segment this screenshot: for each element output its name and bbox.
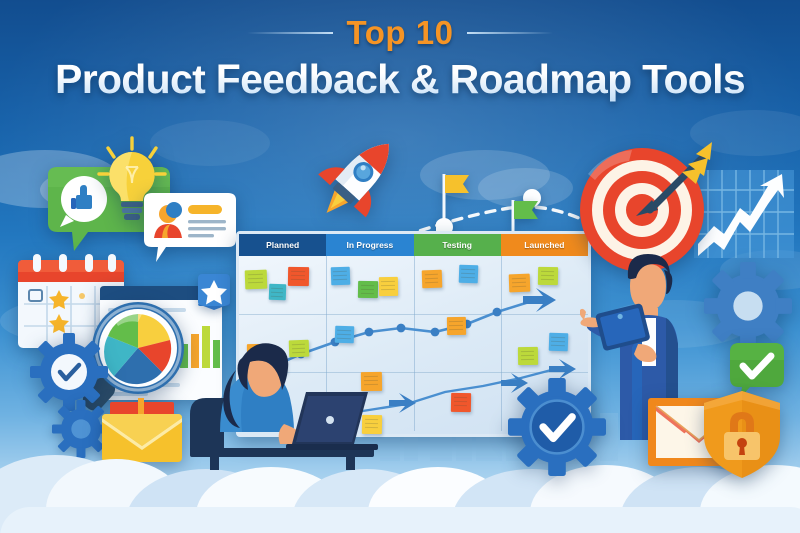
board-column-header[interactable]: Testing [414,234,501,256]
cloud-decoration [150,120,270,166]
sticky-note-line [425,282,439,283]
sticky-note-line [425,278,439,279]
sticky-note[interactable] [422,270,443,289]
sticky-note[interactable] [268,284,286,301]
sticky-note[interactable] [245,270,268,290]
sticky-note-line [248,282,263,284]
cloud-puff [0,507,800,533]
sticky-note-line [551,345,564,346]
board-column-header[interactable]: Launched [501,234,588,256]
user-profile-card-bubble [140,192,238,264]
sticky-note[interactable] [459,264,479,283]
header: Top 10 Product Feedback & Roadmap Tools [0,14,800,103]
sticky-note[interactable] [378,277,397,296]
sticky-note-line [334,274,347,275]
eyebrow-label: Top 10 [347,14,454,52]
board-header: Planned In Progress Testing Launched [239,234,588,256]
sticky-note[interactable] [538,266,558,284]
sticky-note[interactable] [548,333,568,352]
page-title: Product Feedback & Roadmap Tools [0,56,800,103]
sticky-note-line [334,270,347,271]
sticky-note-line [291,278,306,279]
eyebrow-rule-left [247,32,333,34]
sticky-note-line [541,274,555,275]
sticky-note-line [360,284,374,285]
sticky-note-line [381,281,394,282]
sticky-note-line [337,334,350,335]
sticky-note[interactable] [451,392,471,411]
sticky-note-line [512,281,527,283]
sticky-note-line [248,274,263,276]
sticky-note-line [337,338,350,339]
board-column-header[interactable]: Planned [239,234,326,256]
sticky-note-line [512,277,527,279]
sticky-note-line [291,274,306,275]
sticky-note-line [461,277,474,278]
sticky-note-line [381,285,394,286]
gear-with-checkmark [508,378,606,476]
board-column-label: In Progress [346,240,393,250]
sticky-note-line [521,351,535,352]
eyebrow-rule-right [467,32,553,34]
sticky-note-line [521,355,535,356]
sticky-note[interactable] [331,266,351,285]
sticky-note-line [454,396,468,397]
sticky-note-line [271,296,283,297]
sticky-note-line [338,330,351,331]
settings-gear [704,262,792,350]
sticky-note-line [449,321,462,322]
infographic-canvas: Top 10 Product Feedback & Roadmap Tools [0,0,800,533]
sticky-note-line [360,288,374,289]
sticky-note-line [454,404,468,405]
sticky-note[interactable] [288,266,309,285]
rocket-launch [312,130,404,226]
sticky-note-line [271,292,283,293]
sticky-note-line [248,278,263,280]
sticky-note[interactable] [446,317,465,335]
sticky-note-line [271,288,283,289]
security-shield-lock [700,388,784,482]
sticky-note-line [454,400,468,401]
board-column-label: Planned [266,240,299,250]
eyebrow-row: Top 10 [0,14,800,52]
sticky-note-line [512,285,527,287]
board-column-label: Testing [442,240,472,250]
sticky-note-line [334,278,347,279]
sticky-note-line [461,269,474,270]
sticky-note-line [521,359,535,360]
sticky-note-line [381,289,394,290]
milestone-flag-yellow [436,170,476,238]
sticky-note-line [551,341,564,342]
sticky-note-line [541,278,555,279]
sticky-note-line [541,270,555,271]
sticky-note-line [551,337,564,338]
board-column-label: Launched [524,240,564,250]
board-column-header[interactable]: In Progress [326,234,413,256]
sticky-note-line [449,329,462,330]
sticky-note-line [449,325,462,326]
pointing-hand-icon [580,309,598,327]
sticky-note-line [360,292,374,293]
sticky-note[interactable] [518,347,538,365]
person-working-at-laptop [186,340,386,470]
sticky-note-line [461,273,474,274]
star-review-badge [196,272,232,312]
sticky-note[interactable] [509,273,531,292]
sticky-note-line [425,274,439,275]
sticky-note[interactable] [358,280,378,297]
sticky-note-line [291,270,306,271]
